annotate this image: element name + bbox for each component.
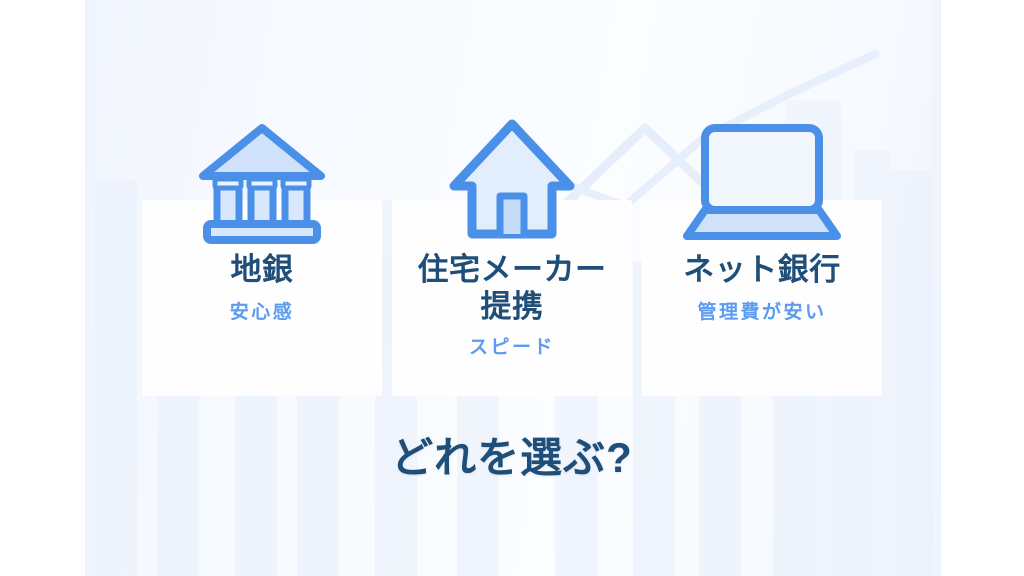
card-internet-bank[interactable]: ネット銀行 管理費が安い xyxy=(642,200,882,396)
card-text-block: ネット銀行 管理費が安い xyxy=(642,252,882,324)
card-subtitle: スピード xyxy=(398,337,626,360)
card-text-block: 住宅メーカー 提携 スピード xyxy=(392,252,632,360)
card-row: 地銀 安心感 住宅メーカー 提携 スピード xyxy=(0,200,1024,396)
card-title: 住宅メーカー 提携 xyxy=(398,252,626,325)
card-title: 地銀 xyxy=(148,252,376,289)
card-regional-bank[interactable]: 地銀 安心感 xyxy=(142,200,382,396)
card-subtitle: 安心感 xyxy=(148,302,376,325)
slide-canvas: 地銀 安心感 住宅メーカー 提携 スピード xyxy=(0,0,1024,576)
slide-headline: どれを選ぶ? xyxy=(0,424,1024,485)
card-subtitle: 管理費が安い xyxy=(648,302,876,325)
card-text-block: 地銀 安心感 xyxy=(142,252,382,324)
card-title: ネット銀行 xyxy=(648,252,876,289)
card-home-maker[interactable]: 住宅メーカー 提携 スピード xyxy=(392,200,632,396)
